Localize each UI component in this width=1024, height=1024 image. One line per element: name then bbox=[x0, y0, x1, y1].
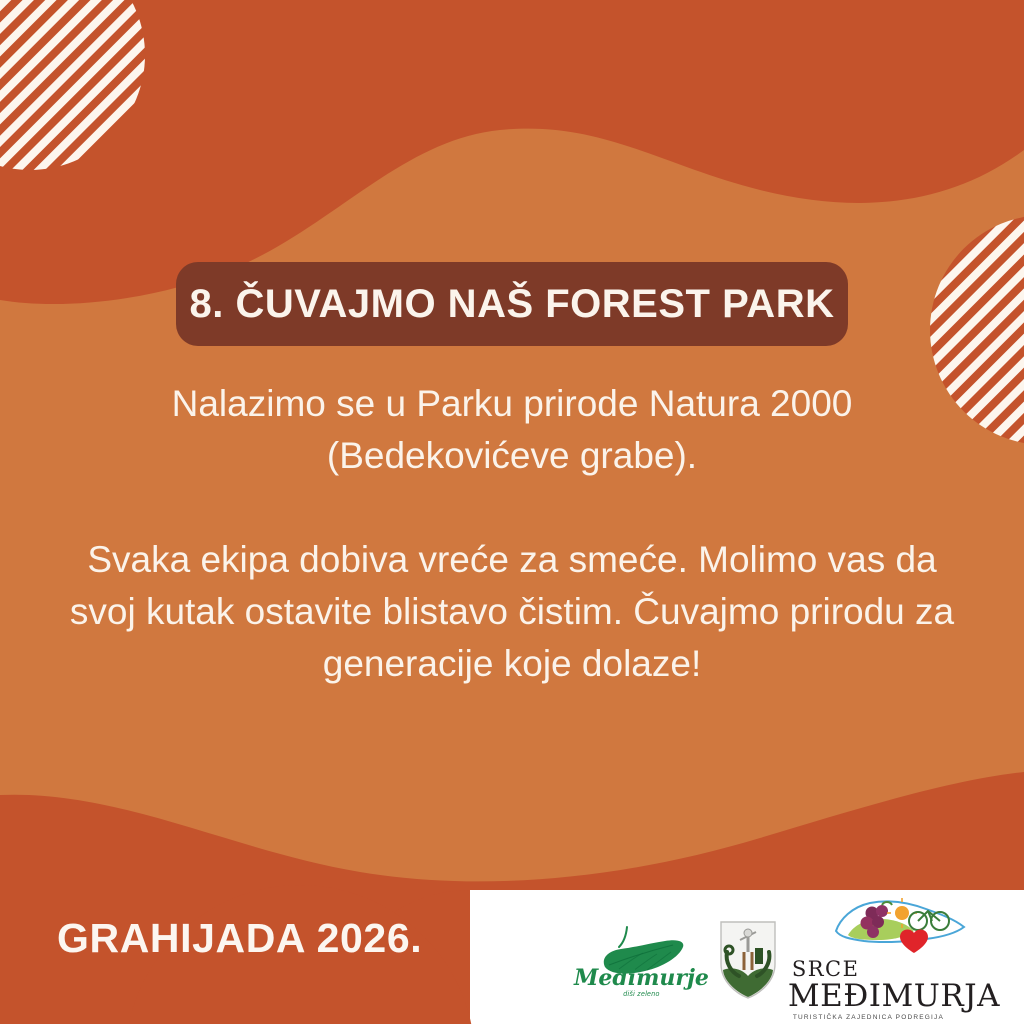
medimurje-leaf-logo: Međimurje diši zeleno bbox=[574, 921, 709, 998]
srce-line-1: SRCE bbox=[792, 959, 860, 980]
title-banner: 8. ČUVAJMO NAŠ FOREST PARK bbox=[176, 262, 848, 346]
medimurje-tagline: diši zeleno bbox=[623, 991, 659, 998]
sponsor-logo-strip: Međimurje diši zeleno bbox=[560, 895, 1024, 1024]
shield-coat-of-arms-icon bbox=[715, 918, 781, 1002]
medimurje-wordmark: Međimurje bbox=[574, 967, 709, 989]
paragraph-location: Nalazimo se u Parku prirode Natura 2000 … bbox=[62, 378, 962, 482]
region-map-heart-icon bbox=[818, 897, 970, 959]
coat-of-arms-logo bbox=[715, 918, 781, 1002]
paragraph-instructions: Svaka ekipa dobiva vreće za smeće. Molim… bbox=[62, 534, 962, 690]
body-copy: Nalazimo se u Parku prirode Natura 2000 … bbox=[62, 378, 962, 690]
page-title: 8. ČUVAJMO NAŠ FOREST PARK bbox=[190, 284, 835, 324]
footer-brand-title: GRAHIJADA 2026. bbox=[57, 918, 422, 959]
srce-medimurja-wordmark: SRCE MEĐIMURJA TURISTIČKA ZAJEDNICA PODR… bbox=[788, 959, 1000, 1022]
srce-medimurja-logo: SRCE MEĐIMURJA TURISTIČKA ZAJEDNICA PODR… bbox=[788, 897, 1000, 1022]
srce-line-2: MEĐIMURJA bbox=[788, 981, 1000, 1012]
poster-canvas: 8. ČUVAJMO NAŠ FOREST PARK Nalazimo se u… bbox=[0, 0, 1024, 1024]
srce-tagline: TURISTIČKA ZAJEDNICA PODREGIJA bbox=[793, 1015, 944, 1022]
